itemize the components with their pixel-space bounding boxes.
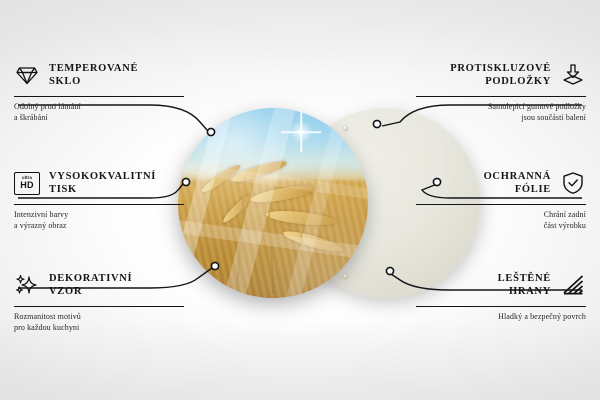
feature-header: OCHRANNÁ FÓLIE: [416, 166, 586, 200]
feature-protective-foil: OCHRANNÁ FÓLIE Chrání zadní část výrobku: [416, 166, 586, 232]
feature-tempered-glass: TEMPEROVANÉ SKLO Odolný proti lámání a š…: [14, 58, 184, 124]
connector-dot-right-3: [386, 267, 393, 274]
divider: [14, 204, 184, 205]
feature-title: OCHRANNÁ FÓLIE: [484, 170, 551, 197]
ultra-hd-badge-icon: ultra HD: [14, 170, 40, 196]
divider: [14, 96, 184, 97]
feature-description: Rozmanitost motivů pro každou kuchyni: [14, 311, 184, 334]
feature-description: Odolný proti lámání a škrábání: [14, 101, 184, 124]
arrow-into-pad-icon: [560, 62, 586, 88]
feature-header: DEKORATIVNÍ VZOR: [14, 268, 184, 302]
diamond-icon: [14, 62, 40, 88]
shield-check-icon: [560, 170, 586, 196]
feature-header: PROTISKLUZOVÉ PODLOŽKY: [416, 58, 586, 92]
connector-dot-right-1: [373, 120, 380, 127]
feature-anti-slip-pads: PROTISKLUZOVÉ PODLOŽKY Samolepicí gumové…: [416, 58, 586, 124]
divider: [416, 306, 586, 307]
feature-header: LEŠTĚNÉ HRANY: [416, 268, 586, 302]
polished-edge-icon: [560, 272, 586, 298]
feature-decorative-pattern: DEKORATIVNÍ VZOR Rozmanitost motivů pro …: [14, 268, 184, 334]
feature-polished-edges: LEŠTĚNÉ HRANY Hladký a bezpečný povrch: [416, 268, 586, 322]
feature-title: PROTISKLUZOVÉ PODLOŽKY: [450, 62, 551, 89]
feature-high-quality-print: ultra HD VYSOKOKVALITNÍ TISK Intenzivní …: [14, 166, 184, 232]
divider: [416, 204, 586, 205]
feature-description: Hladký a bezpečný povrch: [416, 311, 586, 322]
feature-title: TEMPEROVANÉ SKLO: [49, 62, 138, 89]
hd-badge-big-text: HD: [20, 181, 33, 190]
connector-dot-left-1: [207, 128, 214, 135]
feature-description: Intenzivní barvy a výrazný obraz: [14, 209, 184, 232]
feature-title: DEKORATIVNÍ VZOR: [49, 272, 132, 299]
feature-description: Chrání zadní část výrobku: [416, 209, 586, 232]
connector-dot-left-3: [211, 262, 218, 269]
feature-description: Samolepicí gumové podložky jsou součástí…: [416, 101, 586, 124]
divider: [416, 96, 586, 97]
feature-title: LEŠTĚNÉ HRANY: [498, 272, 551, 299]
divider: [14, 306, 184, 307]
feature-title: VYSOKOKVALITNÍ TISK: [49, 170, 156, 197]
product-infographic: TEMPEROVANÉ SKLO Odolný proti lámání a š…: [0, 0, 600, 400]
feature-header: ultra HD VYSOKOKVALITNÍ TISK: [14, 166, 184, 200]
feature-header: TEMPEROVANÉ SKLO: [14, 58, 184, 92]
sparkle-icon: [14, 272, 40, 298]
